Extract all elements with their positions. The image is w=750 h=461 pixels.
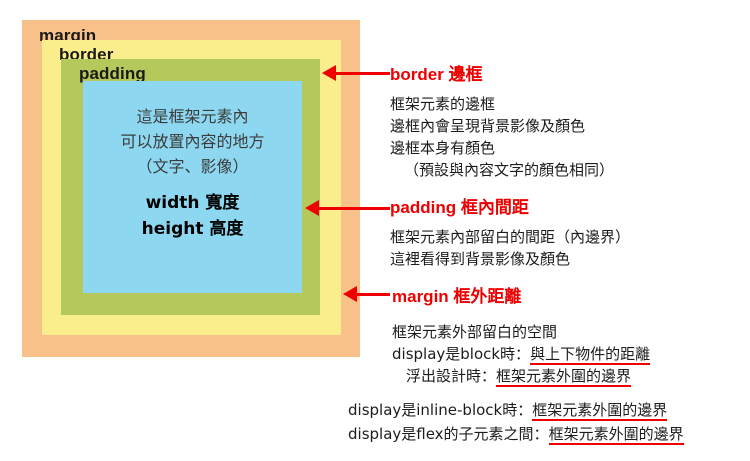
annotation-line: 框架元素內部留白的間距（內邊界） [390, 226, 630, 248]
padding-layer: padding 這是框架元素內 可以放置內容的地方 （文字、影像） width … [61, 59, 320, 315]
content-line: （文字、影像） [83, 154, 302, 179]
annotation-line: 浮出設計時：框架元素外圍的邊界 [392, 365, 650, 387]
content-line: 可以放置內容的地方 [83, 129, 302, 154]
margin-layer: margin border padding 這是框架元素內 可以放置內容的地方 … [22, 20, 360, 357]
annotation-line: display是flex的子元素之間：框架元素外圍的邊界 [348, 422, 684, 446]
annotation-line-underlined: 框架元素外圍的邊界 [549, 425, 684, 445]
box-model-diagram: margin border padding 這是框架元素內 可以放置內容的地方 … [0, 0, 750, 461]
annotation-margin-title: margin 框外距離 [392, 282, 650, 307]
content-width-line: width 寬度 [83, 190, 302, 216]
content-height-line: height 高度 [83, 216, 302, 242]
padding-arrow-icon [305, 200, 390, 216]
spacer [83, 179, 302, 190]
content-layer: 這是框架元素內 可以放置內容的地方 （文字、影像） width 寬度 heigh… [83, 81, 302, 293]
border-arrow-icon [322, 65, 390, 81]
bottom-notes: display是inline-block時：框架元素外圍的邊界 display是… [348, 398, 684, 446]
content-line: 這是框架元素內 [83, 104, 302, 129]
annotation-line-prefix: display是block時： [392, 345, 530, 363]
annotation-margin-body: 框架元素外部留白的空間 display是block時：與上下物件的距離 浮出設計… [392, 321, 650, 387]
annotation-border-body: 框架元素的邊框 邊框內會呈現背景影像及顏色 邊框本身有顏色 （預設與內容文字的顏… [390, 93, 614, 181]
content-text: 這是框架元素內 可以放置內容的地方 （文字、影像） width 寬度 heigh… [83, 104, 302, 242]
annotation-padding: padding 框內間距 框架元素內部留白的間距（內邊界） 這裡看得到背景影像及… [390, 193, 630, 270]
annotation-padding-body: 框架元素內部留白的間距（內邊界） 這裡看得到背景影像及顏色 [390, 226, 630, 270]
annotation-line: 框架元素的邊框 [390, 93, 614, 115]
annotation-line: 邊框內會呈現背景影像及顏色 [390, 115, 614, 137]
annotation-line: 這裡看得到背景影像及顏色 [390, 248, 630, 270]
annotation-padding-title: padding 框內間距 [390, 193, 630, 218]
annotation-border: border 邊框 框架元素的邊框 邊框內會呈現背景影像及顏色 邊框本身有顏色 … [390, 60, 614, 181]
annotation-line-prefix: display是flex的子元素之間： [348, 425, 549, 443]
annotation-line: 框架元素外部留白的空間 [392, 321, 650, 343]
annotation-margin: margin 框外距離 框架元素外部留白的空間 display是block時：與… [392, 282, 650, 387]
annotation-line: 邊框本身有顏色 [390, 137, 614, 159]
annotation-line: display是inline-block時：框架元素外圍的邊界 [348, 398, 684, 422]
annotation-line-underlined: 框架元素外圍的邊界 [532, 401, 667, 421]
annotation-line-underlined: 框架元素外圍的邊界 [496, 367, 631, 387]
border-layer: border padding 這是框架元素內 可以放置內容的地方 （文字、影像）… [42, 40, 341, 335]
annotation-line: （預設與內容文字的顏色相同） [390, 159, 614, 181]
annotation-line-prefix: 浮出設計時： [406, 367, 496, 385]
annotation-line: display是block時：與上下物件的距離 [392, 343, 650, 365]
annotation-border-title: border 邊框 [390, 60, 614, 85]
annotation-line-underlined: 與上下物件的距離 [530, 345, 650, 365]
margin-arrow-icon [343, 286, 390, 302]
annotation-line-prefix: display是inline-block時： [348, 401, 532, 419]
